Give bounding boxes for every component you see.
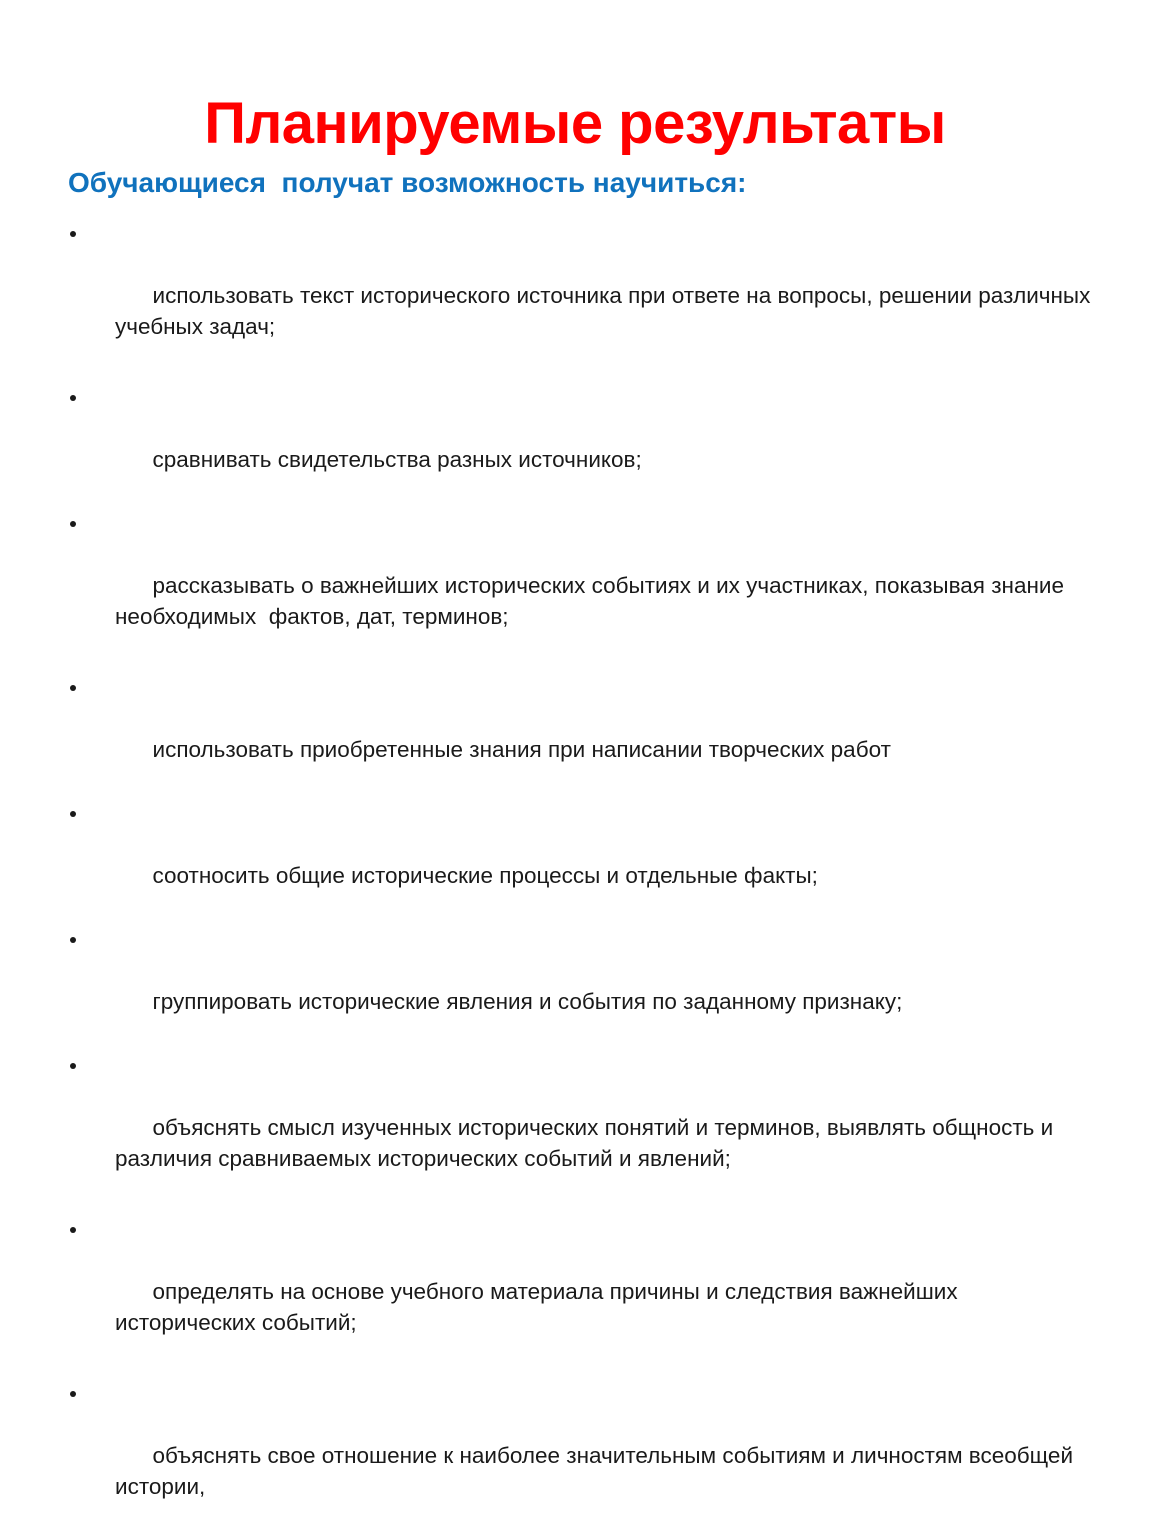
list-item-label: группировать исторические явления и собы… — [153, 989, 903, 1014]
slide-subtitle: Обучающиеся получат возможность научитьс… — [68, 166, 1098, 200]
bullet-point-icon — [70, 924, 90, 955]
list-item: использовать текст исторического источни… — [60, 218, 1095, 373]
list-item: сравнивать свидетельства разных источник… — [60, 382, 1095, 506]
page-title: Планируемые результаты — [0, 93, 1150, 155]
list-item-label: рассказывать о важнейших исторических со… — [115, 573, 1070, 629]
list-item: объяснять свое отношение к наиболее знач… — [60, 1378, 1095, 1533]
bullet-point-icon — [70, 508, 90, 539]
list-item: использовать приобретенные знания при на… — [60, 672, 1095, 796]
list-item-label: использовать приобретенные знания при на… — [153, 737, 891, 762]
list-item-label: объяснять свое отношение к наиболее знач… — [115, 1443, 1079, 1499]
bullet-point-icon — [70, 382, 90, 413]
list-item-label: объяснять смысл изученных исторических п… — [115, 1115, 1059, 1171]
list-item-label: соотносить общие исторические процессы и… — [153, 863, 818, 888]
learning-outcomes-list: использовать текст исторического источни… — [60, 218, 1095, 1533]
list-item: рассказывать о важнейших исторических со… — [60, 508, 1095, 663]
list-item-label: сравнивать свидетельства разных источник… — [153, 447, 642, 472]
list-item-label: определять на основе учебного материала … — [115, 1279, 964, 1335]
bullet-point-icon — [70, 672, 90, 703]
bullet-point-icon — [70, 1378, 90, 1409]
bullet-point-icon — [70, 1050, 90, 1081]
presentation-slide: Планируемые результаты Обучающиеся получ… — [0, 0, 1150, 864]
list-item: группировать исторические явления и собы… — [60, 924, 1095, 1048]
bullet-point-icon — [70, 218, 90, 249]
list-item: соотносить общие исторические процессы и… — [60, 798, 1095, 922]
list-item: определять на основе учебного материала … — [60, 1214, 1095, 1369]
list-item-label: использовать текст исторического источни… — [115, 283, 1097, 339]
list-item: объяснять смысл изученных исторических п… — [60, 1050, 1095, 1205]
bullet-point-icon — [70, 798, 90, 829]
bullet-point-icon — [70, 1214, 90, 1245]
